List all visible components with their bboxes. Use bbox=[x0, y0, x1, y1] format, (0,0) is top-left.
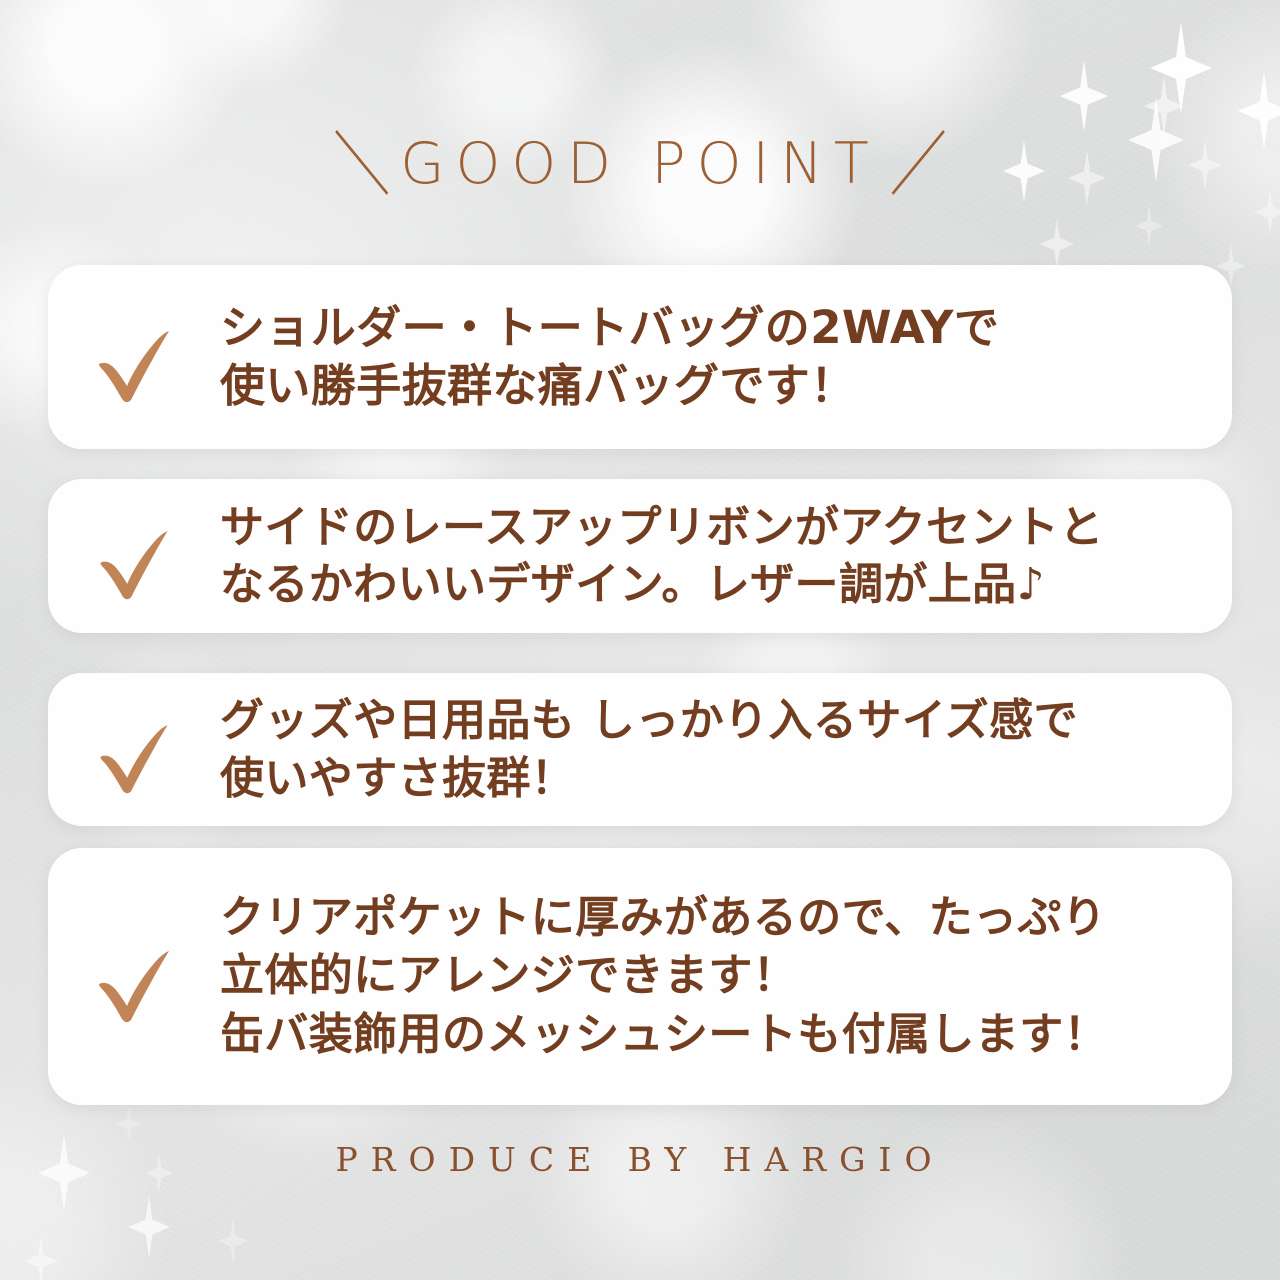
card-3-line-1: グッズや日用品も しっかり入るサイズ感で bbox=[220, 692, 1206, 749]
check-icon bbox=[88, 510, 180, 602]
check-icon bbox=[86, 929, 182, 1025]
footer-credit: PRODUCE BY HARGIO bbox=[0, 1140, 1280, 1179]
good-point-card-1: ショルダー・トートバッグの2WAYで 使い勝手抜群な痛バッグです！ bbox=[48, 265, 1232, 449]
card-4-line-3: 缶バ装飾用のメッシュシートも付属します！ bbox=[220, 1006, 1206, 1065]
card-4-line-1: クリアポケットに厚みがあるので、たっぷり bbox=[220, 889, 1206, 948]
title-left-slash: ＼ bbox=[333, 109, 390, 209]
check-icon-wrap-1 bbox=[48, 309, 220, 405]
good-point-graphic: ＼GOOD POINT／ ショルダー・トートバッグの2WAYで 使い勝手抜群な痛… bbox=[0, 0, 1280, 1280]
card-2-line-2: なるかわいいデザイン。レザー調が上品♪ bbox=[220, 556, 1206, 613]
title-text: GOOD POINT bbox=[390, 131, 889, 197]
page-title: ＼GOOD POINT／ bbox=[0, 118, 1280, 200]
check-icon-wrap-2 bbox=[48, 510, 220, 602]
good-point-card-4: クリアポケットに厚みがあるので、たっぷり 立体的にアレンジできます！ 缶バ装飾用… bbox=[48, 848, 1232, 1105]
card-3-text: グッズや日用品も しっかり入るサイズ感で 使いやすさ抜群！ bbox=[220, 692, 1232, 806]
card-1-text: ショルダー・トートバッグの2WAYで 使い勝手抜群な痛バッグです！ bbox=[220, 299, 1232, 416]
good-point-card-2: サイドのレースアップリボンがアクセントと なるかわいいデザイン。レザー調が上品♪ bbox=[48, 479, 1232, 633]
card-2-line-1: サイドのレースアップリボンがアクセントと bbox=[220, 499, 1206, 556]
card-4-text: クリアポケットに厚みがあるので、たっぷり 立体的にアレンジできます！ 缶バ装飾用… bbox=[220, 889, 1232, 1065]
title-right-slash: ／ bbox=[890, 109, 947, 209]
card-1-line-2: 使い勝手抜群な痛バッグです！ bbox=[220, 357, 1206, 416]
check-icon bbox=[86, 309, 182, 405]
card-3-line-2: 使いやすさ抜群！ bbox=[220, 750, 1206, 807]
card-1-line-1: ショルダー・トートバッグの2WAYで bbox=[220, 299, 1206, 358]
check-icon-wrap-3 bbox=[48, 704, 220, 796]
check-icon bbox=[88, 704, 180, 796]
check-icon-wrap-4 bbox=[48, 929, 220, 1025]
card-2-text: サイドのレースアップリボンがアクセントと なるかわいいデザイン。レザー調が上品♪ bbox=[220, 499, 1232, 613]
good-point-card-3: グッズや日用品も しっかり入るサイズ感で 使いやすさ抜群！ bbox=[48, 673, 1232, 826]
card-4-line-2: 立体的にアレンジできます！ bbox=[220, 947, 1206, 1006]
